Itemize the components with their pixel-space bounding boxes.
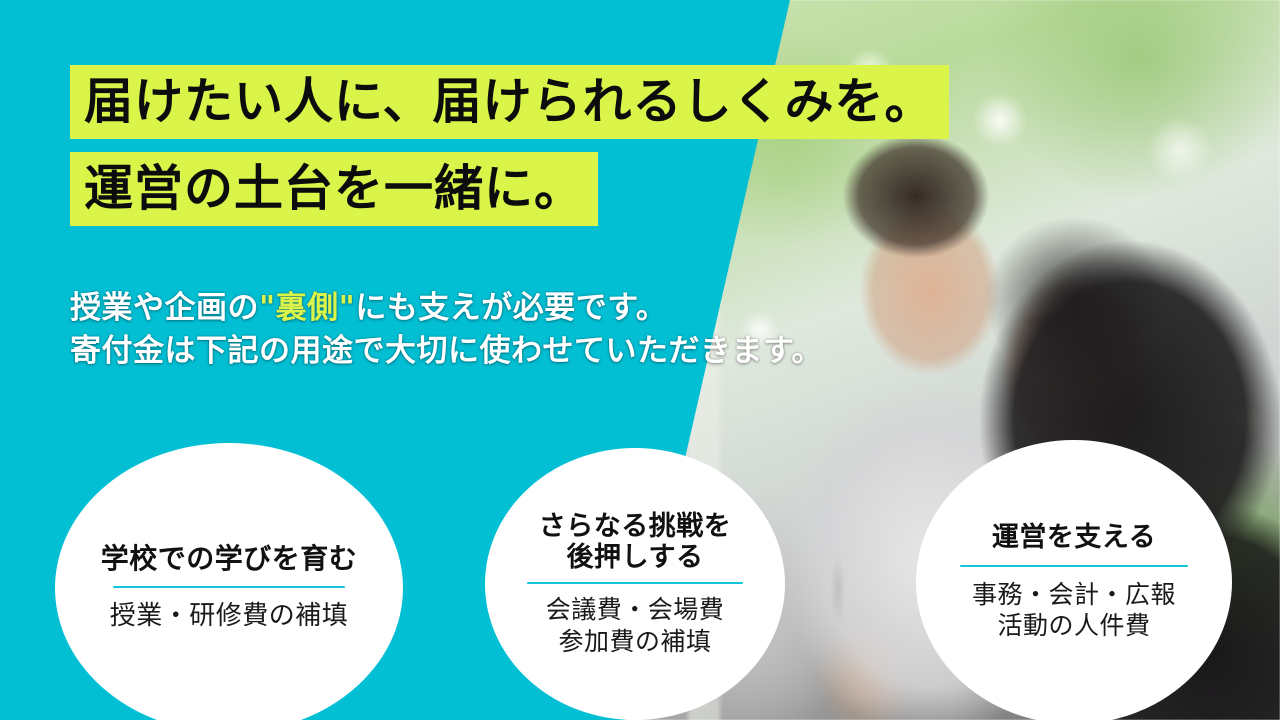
usage-card-school-title: 学校での学びを育む (101, 543, 358, 575)
usage-card-operations: 運営を支える 事務・会計・広報 活動の人件費 (916, 440, 1232, 720)
usage-card-challenge-body-line-2: 参加費の補填 (546, 626, 725, 658)
usage-card-school: 学校での学びを育む 授業・研修費の補填 (55, 443, 403, 720)
banner-stage: 届けたい人に、届けられるしくみを。 運営の土台を一緒に。 授業や企画の"裏側"に… (0, 0, 1280, 720)
usage-card-challenge-title: さらなる挑戦を 後押しする (539, 511, 732, 574)
usage-card-school-divider (113, 586, 345, 588)
subtitle-emphasis: "裏側" (259, 290, 355, 326)
usage-card-operations-body: 事務・会計・広報 活動の人件費 (972, 579, 1176, 642)
usage-card-operations-title: 運営を支える (992, 522, 1156, 553)
usage-card-operations-divider (960, 565, 1188, 567)
usage-card-operations-body-line-2: 活動の人件費 (972, 610, 1176, 642)
usage-card-challenge-divider (527, 582, 743, 584)
subtitle-line-2: 寄付金は下記の用途で大切に使わせていただきます。 (70, 330, 823, 373)
usage-card-challenge-title-line-2: 後押しする (539, 542, 732, 573)
subtitle-line-1: 授業や企画の"裏側"にも支えが必要です。 (70, 287, 823, 330)
subtitle-line-1-before: 授業や企画の (70, 290, 259, 326)
usage-card-challenge: さらなる挑戦を 後押しする 会議費・会場費 参加費の補填 (485, 448, 785, 720)
usage-card-operations-body-line-1: 事務・会計・広報 (972, 579, 1176, 611)
headline-line-1: 届けたい人に、届けられるしくみを。 (70, 65, 949, 139)
usage-card-challenge-body-line-1: 会議費・会場費 (546, 594, 725, 626)
subtitle-line-1-after: にも支えが必要です。 (355, 290, 667, 326)
usage-card-challenge-title-line-1: さらなる挑戦を (539, 511, 732, 542)
subtitle: 授業や企画の"裏側"にも支えが必要です。 寄付金は下記の用途で大切に使わせていた… (70, 287, 823, 373)
usage-card-challenge-body: 会議費・会場費 参加費の補填 (546, 594, 725, 657)
usage-card-school-body-line-1: 授業・研修費の補填 (110, 600, 349, 633)
headline-line-2: 運営の土台を一緒に。 (70, 152, 598, 226)
usage-card-school-body: 授業・研修費の補填 (110, 600, 349, 633)
